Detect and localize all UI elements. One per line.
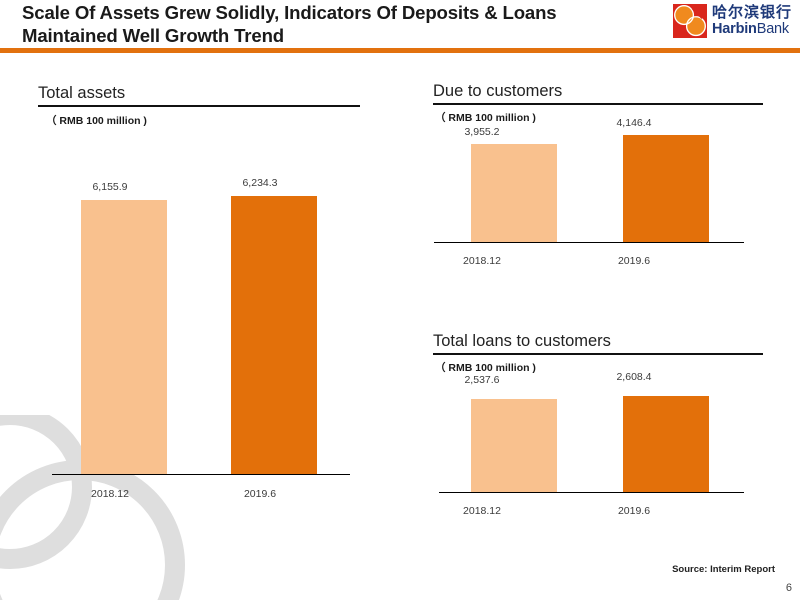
bar-2019-6[interactable]: [231, 196, 317, 474]
bar-value-label: 6,234.3: [195, 177, 325, 189]
logo-english-name: HarbinBank: [712, 22, 792, 37]
chart-title-total-loans: Total loans to customers: [433, 332, 763, 351]
page-number: 6: [786, 582, 792, 594]
logo-chinese-name: 哈尔滨银行: [712, 5, 792, 20]
chart-title-underline: [433, 103, 763, 105]
chart-panel-total-loans: Total loans to customers （ RMB 100 milli…: [433, 332, 763, 527]
bar-value-label: 4,146.4: [569, 117, 699, 129]
chart-panel-total-assets: Total assets （ RMB 100 million ) 6,155.9…: [38, 84, 360, 524]
chart-title-underline: [38, 105, 360, 107]
logo-brand-bold: Harbin: [712, 21, 757, 37]
chart-plot-total-assets: 6,155.9 6,234.3 2018.12 2019.6: [38, 132, 360, 524]
logo-wordmark: 哈尔滨银行 HarbinBank: [712, 5, 792, 37]
bank-logo-mark-icon: [673, 4, 707, 38]
bar-value-label: 3,955.2: [417, 126, 547, 138]
bar-2018-12[interactable]: [471, 144, 557, 242]
harbin-bank-logo: 哈尔滨银行 HarbinBank: [673, 4, 792, 38]
x-axis-label-2018-12: 2018.12: [417, 505, 547, 517]
logo-brand-light: Bank: [757, 21, 789, 37]
chart-title-underline: [433, 353, 763, 355]
chart-panel-due-to-customers: Due to customers （ RMB 100 million ) 3,9…: [433, 82, 763, 277]
x-axis-label-2019-6: 2019.6: [569, 505, 699, 517]
bar-2018-12[interactable]: [81, 200, 167, 474]
x-axis-line: [439, 492, 744, 494]
chart-title-due-to-customers: Due to customers: [433, 82, 763, 101]
bar-2019-6[interactable]: [623, 135, 709, 242]
x-axis-label-2018-12: 2018.12: [45, 488, 175, 500]
source-note: Source: Interim Report: [672, 564, 775, 575]
slide-canvas: Scale Of Assets Grew Solidly, Indicators…: [0, 0, 800, 600]
page-title: Scale Of Assets Grew Solidly, Indicators…: [22, 2, 642, 47]
x-axis-line: [434, 242, 744, 244]
chart-title-total-assets: Total assets: [38, 84, 360, 103]
bar-2018-12[interactable]: [471, 399, 557, 492]
header-divider: [0, 48, 800, 53]
bar-value-label: 2,537.6: [417, 374, 547, 386]
bar-value-label: 6,155.9: [45, 181, 175, 193]
chart-plot-due-to-customers: 3,955.2 4,146.4 2018.12 2019.6: [433, 112, 763, 277]
chart-unit-total-assets: （ RMB 100 million ): [46, 113, 360, 128]
x-axis-label-2018-12: 2018.12: [417, 255, 547, 267]
x-axis-line: [52, 474, 350, 476]
bar-2019-6[interactable]: [623, 396, 709, 492]
x-axis-label-2019-6: 2019.6: [569, 255, 699, 267]
x-axis-label-2019-6: 2019.6: [195, 488, 325, 500]
bar-value-label: 2,608.4: [569, 371, 699, 383]
chart-plot-total-loans: 2,537.6 2,608.4 2018.12 2019.6: [433, 362, 763, 527]
